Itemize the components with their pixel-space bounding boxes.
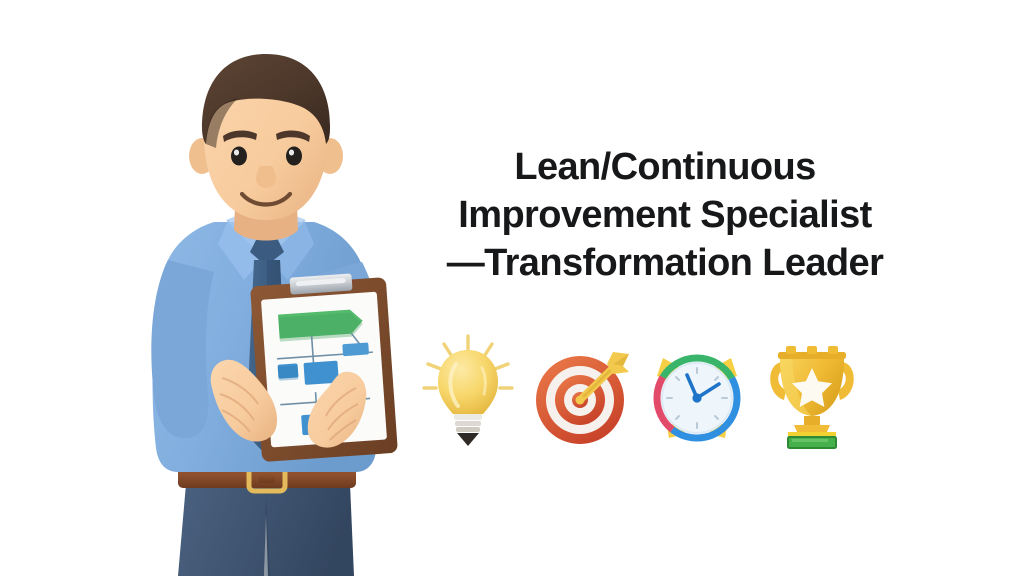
trophy-icon: Trophy <box>764 330 860 448</box>
character-head <box>189 54 343 220</box>
alarm-clock-icon: Alarm clock <box>649 330 745 448</box>
lightbulb-icon: Lightbulb <box>420 330 516 448</box>
character-trousers <box>178 484 354 576</box>
page-title-line-1: Lean/Continuous <box>400 143 930 191</box>
target-dart-icon: Target with dart <box>535 330 631 448</box>
business-professional-illustration: 3D cartoon businessman holding a clipboa… <box>118 44 438 576</box>
page-title-line-3: —Transformation Leader <box>400 239 930 287</box>
icon-row: Lightbulb <box>420 330 860 448</box>
slide-canvas: 3D cartoon businessman holding a clipboa… <box>0 0 1024 576</box>
page-title: Lean/Continuous Improvement Specialist —… <box>400 143 930 287</box>
page-title-line-2: Improvement Specialist <box>400 191 930 239</box>
